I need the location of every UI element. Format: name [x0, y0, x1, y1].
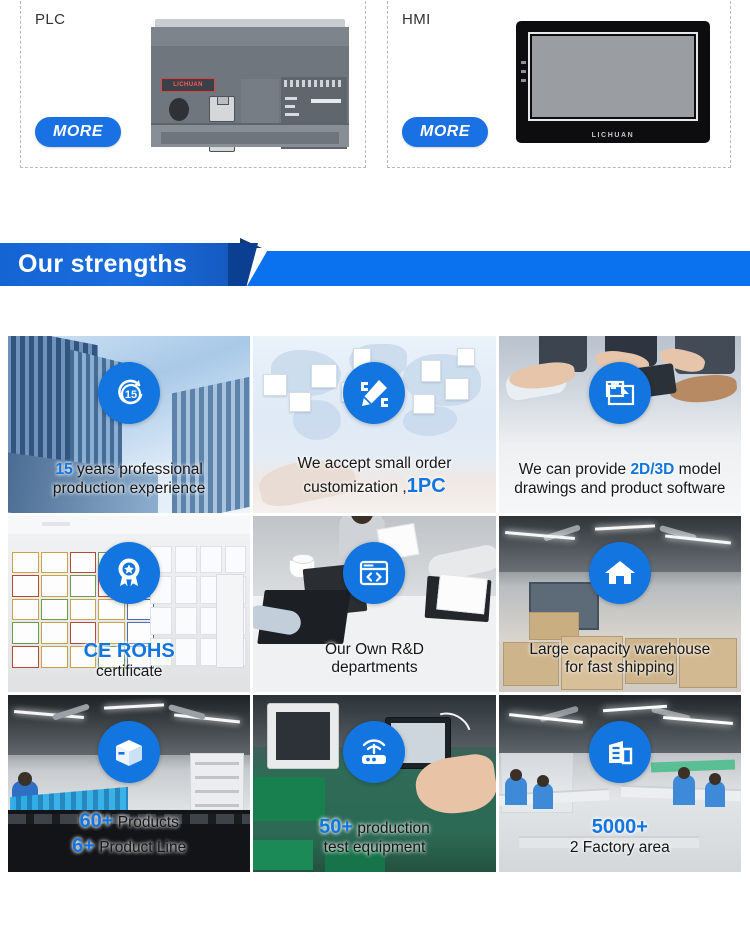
caption-line2-rest: customization , — [303, 479, 406, 496]
product-card-hmi[interactable]: HMI LICHUAN MORE — [387, 0, 731, 168]
banner-right-ribbon — [247, 251, 750, 286]
strength-caption-factory-area: 5000+ 2 Factory area — [503, 815, 737, 858]
award-medal-icon — [98, 542, 160, 604]
strength-cell-factory-area[interactable]: 5000+ 2 Factory area — [499, 695, 741, 872]
product-card-label-plc: PLC — [35, 11, 65, 28]
caption-line1-pre: We can provide — [519, 461, 631, 478]
strength-cell-warehouse[interactable]: Large capacity warehouse for fast shippi… — [499, 516, 741, 693]
caption-line2-highlight: 1PC — [407, 475, 446, 497]
more-button-plc[interactable]: MORE — [35, 117, 121, 147]
caption-highlight: 50+ — [319, 816, 353, 838]
strength-cell-cad[interactable]: We can provide 2D/3D model drawings and … — [499, 336, 741, 513]
caption-line2: 2 Factory area — [503, 839, 737, 858]
factory-building-icon — [589, 721, 651, 783]
plc-brand-logo: LICHUAN — [161, 78, 215, 92]
strength-cell-rnd[interactable]: Our Own R&D departments — [253, 516, 495, 693]
product-card-plc[interactable]: PLC LICHUAN — [20, 0, 366, 168]
caption-line1: We accept small order — [298, 455, 452, 472]
product-box-icon — [98, 721, 160, 783]
caption-line2-rest: Product Line — [95, 839, 186, 856]
plc-device-image: LICHUAN — [149, 19, 351, 147]
caption-line2: departments — [257, 659, 491, 678]
strength-caption-certificate: CE ROHS certificate — [12, 639, 246, 682]
caption-line2: test equipment — [257, 839, 491, 858]
cad-drawing-icon — [589, 362, 651, 424]
strength-caption-test-equipment: 50+ production test equipment — [257, 815, 491, 858]
strength-caption-rnd: Our Own R&D departments — [257, 641, 491, 679]
section-title: Our strengths — [18, 243, 187, 286]
caption-highlight: 60+ — [79, 810, 113, 832]
caption-line2: production experience — [12, 480, 246, 499]
caption-highlight: 2D/3D — [630, 461, 674, 478]
svg-text:15: 15 — [125, 389, 137, 401]
years-badge-icon: 15 — [98, 362, 160, 424]
strength-cell-years[interactable]: 15 15 years professional production expe… — [8, 336, 250, 513]
caption-rest: Products — [113, 814, 178, 831]
caption-line2: drawings and product software — [503, 480, 737, 499]
product-showcase-row: PLC LICHUAN — [0, 0, 750, 172]
caption-line1: Our Own R&D — [325, 641, 424, 658]
caption-highlight: CE ROHS — [84, 640, 175, 662]
code-window-icon — [343, 542, 405, 604]
caption-rest: years professional — [73, 461, 203, 478]
strength-caption-cad: We can provide 2D/3D model drawings and … — [503, 461, 737, 499]
hmi-device-image: LICHUAN — [516, 21, 710, 143]
strength-cell-certificate[interactable]: CE ROHS certificate — [8, 516, 250, 693]
section-banner: Our strengths — [0, 243, 750, 286]
warehouse-home-icon — [589, 542, 651, 604]
caption-rest: production — [353, 820, 430, 837]
strength-cell-test-equipment[interactable]: 50+ production test equipment — [253, 695, 495, 872]
hmi-brand-logo: LICHUAN — [516, 132, 710, 139]
caption-highlight: 5000+ — [592, 816, 648, 838]
product-card-label-hmi: HMI — [402, 11, 431, 28]
more-button-hmi[interactable]: MORE — [402, 117, 488, 147]
strength-cell-customization[interactable]: We accept small order customization ,1PC — [253, 336, 495, 513]
strength-caption-years: 15 years professional production experie… — [12, 461, 246, 499]
caption-line1: Large capacity warehouse — [529, 641, 710, 658]
pencil-customization-icon — [343, 362, 405, 424]
caption-highlight: 15 — [55, 461, 72, 478]
strength-caption-customization: We accept small order customization ,1PC — [257, 455, 491, 498]
router-signal-icon — [343, 721, 405, 783]
strengths-grid: 15 15 years professional production expe… — [8, 336, 741, 872]
caption-line2-highlight: 6+ — [72, 835, 95, 857]
caption-line2: for fast shipping — [503, 659, 737, 678]
strength-caption-products: 60+ Products 6+ Product Line — [12, 809, 246, 858]
caption-line2: certificate — [12, 663, 246, 682]
caption-line1-post: model — [674, 461, 721, 478]
strength-caption-warehouse: Large capacity warehouse for fast shippi… — [503, 641, 737, 679]
strength-cell-products[interactable]: 60+ Products 6+ Product Line — [8, 695, 250, 872]
